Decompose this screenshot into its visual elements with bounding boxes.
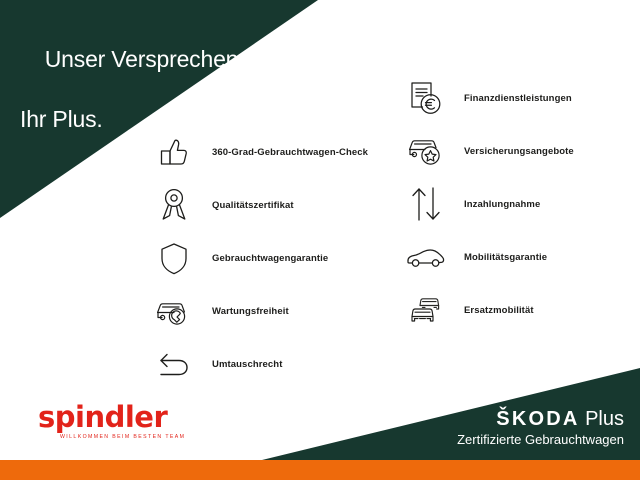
feature-label: Qualitätszertifikat [212, 200, 294, 211]
feature-label: Versicherungsangebote [464, 146, 574, 157]
brand-logo-plus: Plus [580, 408, 624, 430]
dealer-logo-tagline: WILLKOMMEN BEIM BESTEN TEAM [60, 434, 213, 440]
brand-logo-brand: ŠKODA [496, 408, 579, 430]
car-wrench-icon [148, 289, 200, 333]
feature-item: Inzahlungnahme [400, 178, 640, 230]
car-star-icon [400, 129, 452, 173]
feature-label: 360-Grad-Gebrauchtwagen-Check [212, 147, 368, 158]
brand-logo-title: ŠKODA Plus [457, 408, 624, 431]
feature-label: Ersatzmobilität [464, 305, 534, 316]
feature-label: Inzahlungnahme [464, 199, 540, 210]
feature-label: Umtauschrecht [212, 359, 282, 370]
feature-column-left: 360-Grad-Gebrauchtwagen-Check Qualitätsz… [148, 126, 388, 391]
orange-footer-bar [0, 460, 640, 480]
promo-banner: Unser Versprechen. Ihr Plus. 360-Grad-Ge… [0, 0, 640, 480]
return-arrow-icon [148, 342, 200, 386]
award-rosette-icon [148, 183, 200, 227]
feature-label: Wartungsfreiheit [212, 306, 289, 317]
feature-item: Gebrauchtwagengarantie [148, 232, 388, 284]
feature-item: 360-Grad-Gebrauchtwagen-Check [148, 126, 388, 178]
brand-logo: ŠKODA Plus Zertifizierte Gebrauchtwagen [457, 408, 624, 448]
feature-label: Mobilitätsgarantie [464, 252, 547, 263]
dealer-logo: spindler WILLKOMMEN BEIM BESTEN TEAM [38, 402, 213, 440]
two-cars-icon [400, 288, 452, 332]
feature-item: Qualitätszertifikat [148, 179, 388, 231]
dealer-logo-name: spindler [38, 402, 213, 432]
feature-item: Umtauschrecht [148, 338, 388, 390]
headline-line-1: Unser Versprechen. [45, 46, 245, 72]
shield-icon [148, 236, 200, 280]
car-side-icon [400, 235, 452, 279]
feature-item: Mobilitätsgarantie [400, 231, 640, 283]
brand-logo-subtitle: Zertifizierte Gebrauchtwagen [457, 432, 624, 448]
feature-item: Wartungsfreiheit [148, 285, 388, 337]
feature-item: Ersatzmobilität [400, 284, 640, 336]
feature-column-right: Finanzdienstleistungen Versicherungsange… [400, 72, 640, 337]
feature-item: Versicherungsangebote [400, 125, 640, 177]
feature-item: Finanzdienstleistungen [400, 72, 640, 124]
arrows-up-down-icon [400, 182, 452, 226]
thumbs-up-icon [148, 130, 200, 174]
feature-label: Gebrauchtwagengarantie [212, 253, 328, 264]
feature-label: Finanzdienstleistungen [464, 93, 572, 104]
document-euro-icon [400, 76, 452, 120]
